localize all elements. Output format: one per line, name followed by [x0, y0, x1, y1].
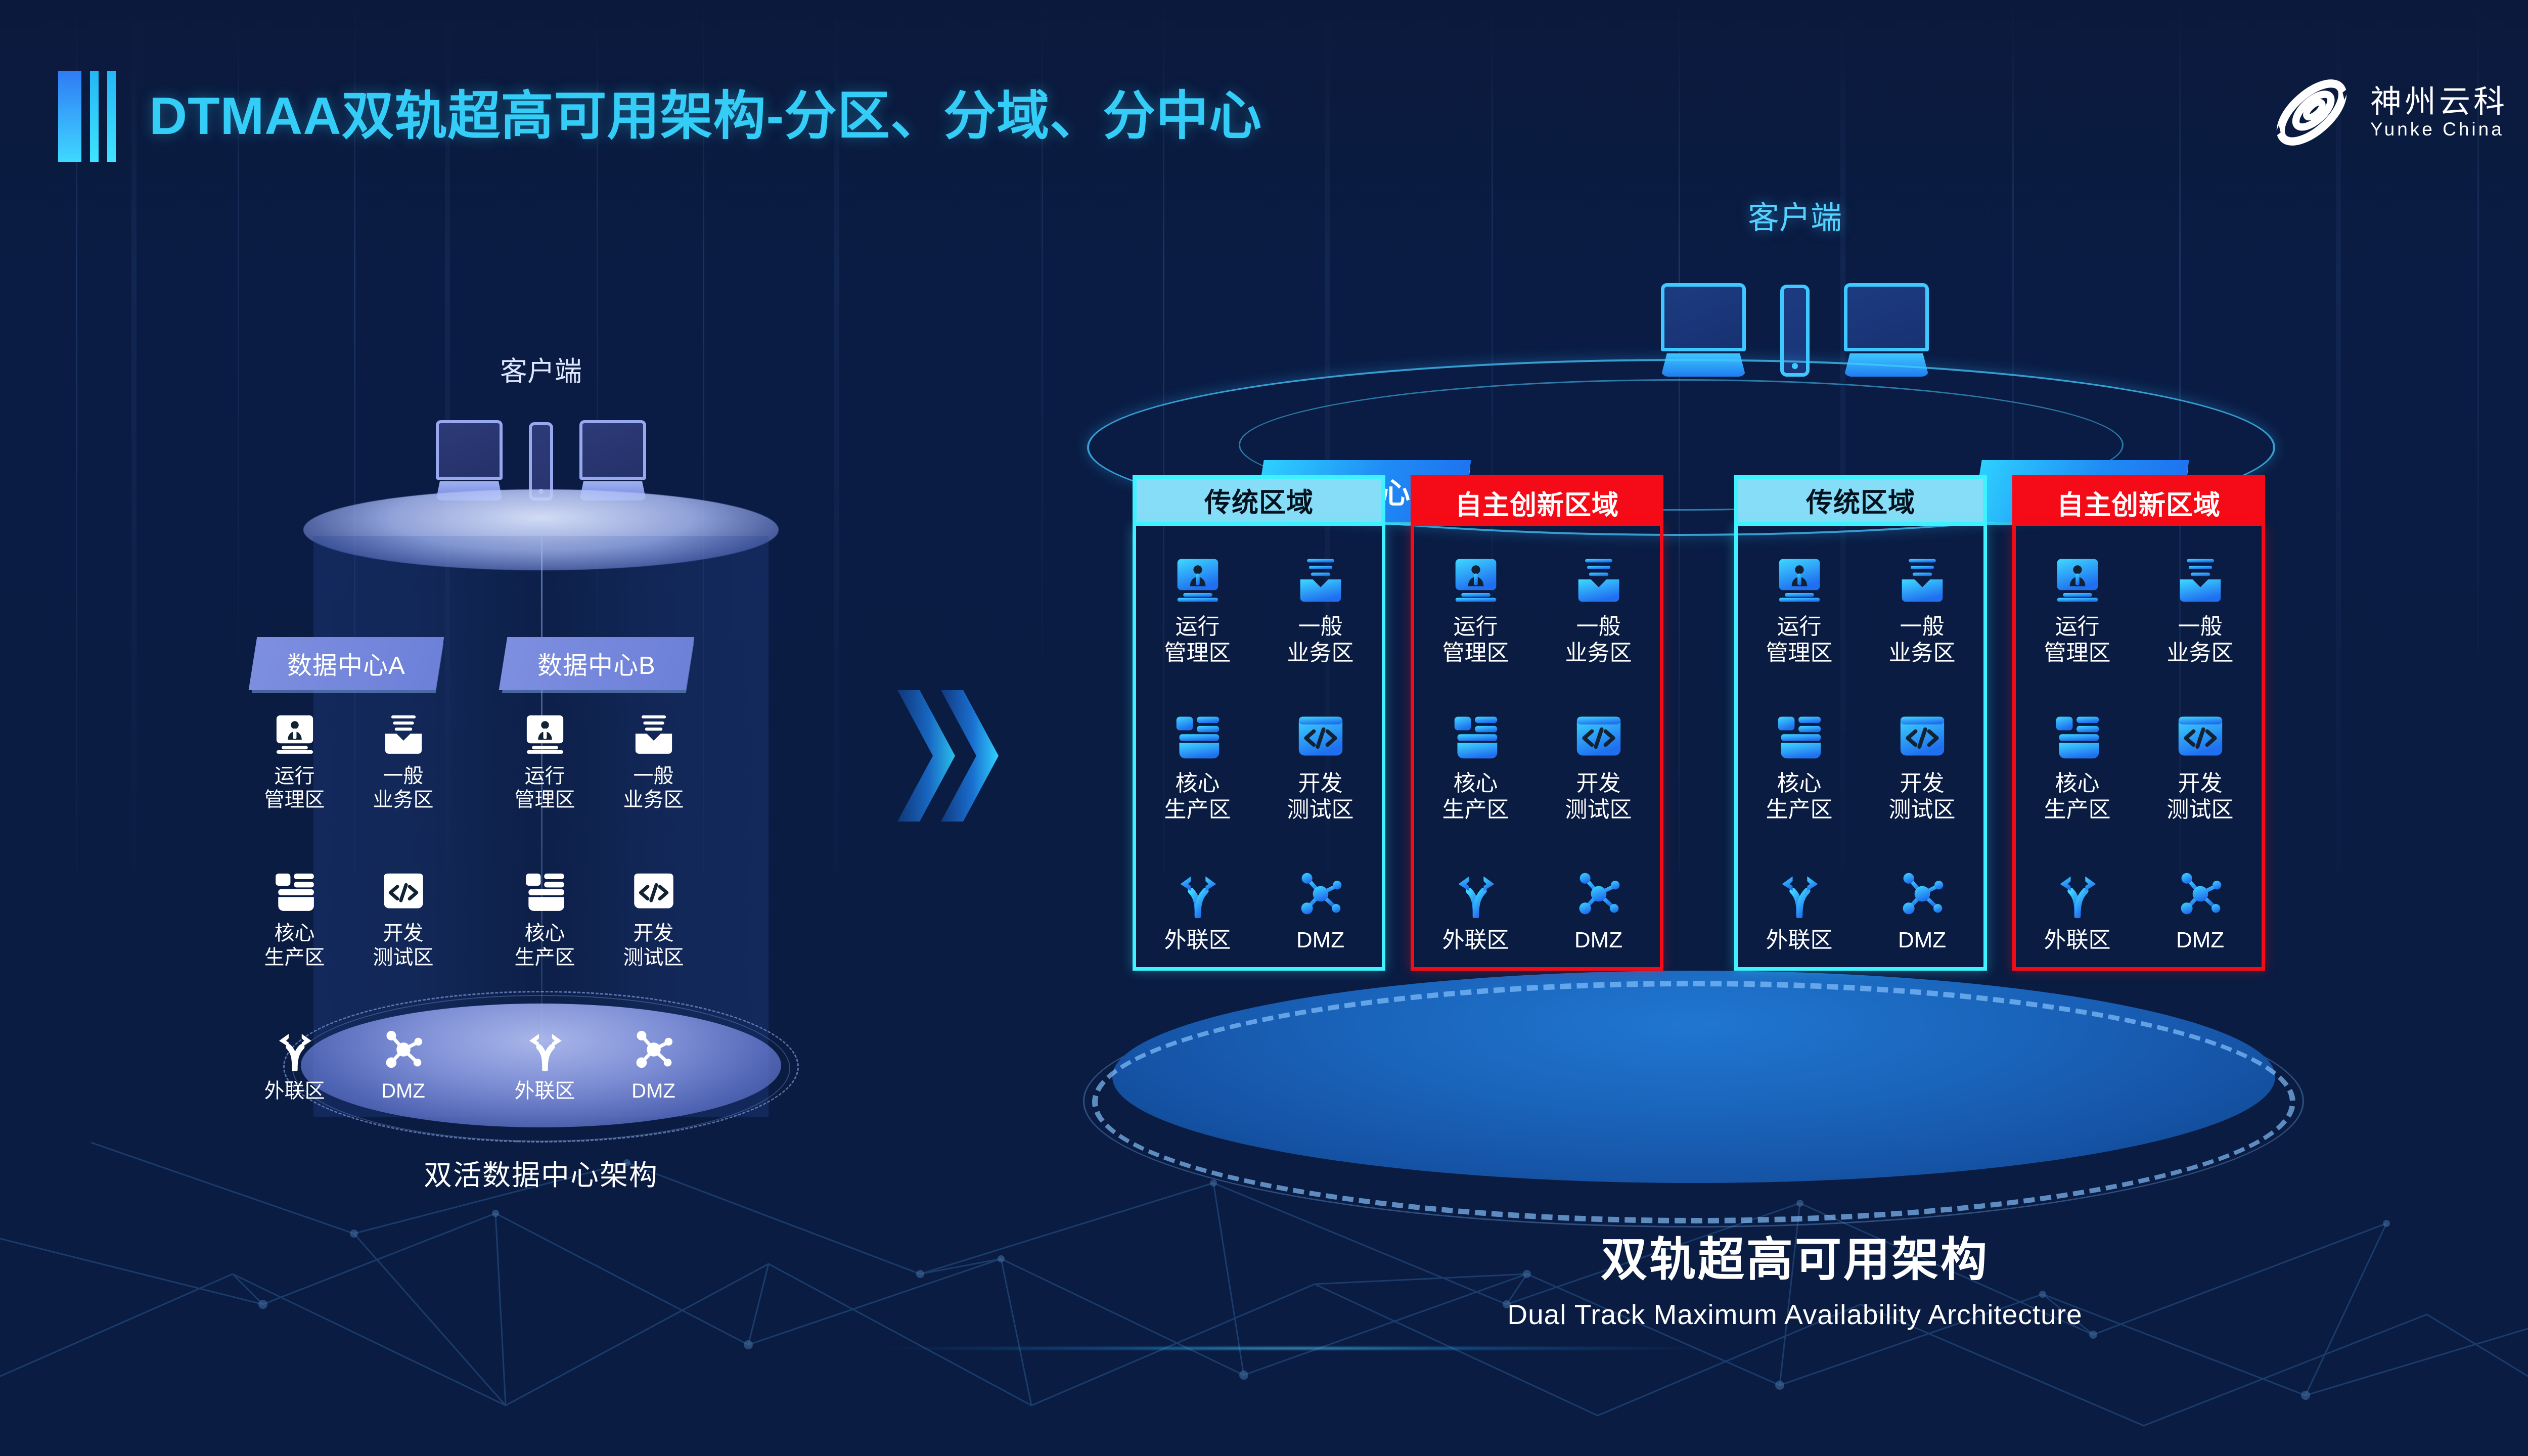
left-datacenter-b-label: 数据中心B [537, 646, 656, 681]
monitor-user-icon [1173, 556, 1222, 605]
panel-body: 运行 管理区 一般 业务区 核心 生产区 [2012, 526, 2265, 971]
left-zone-label: 运行 管理区 [515, 764, 575, 812]
right-zone-label: 外联区 [1164, 927, 1231, 953]
panel-header: 自主创新区域 [2012, 475, 2265, 526]
left-zone-label: 开发 测试区 [373, 922, 434, 969]
right-zone-inbox-document[interactable]: 一般 业务区 [2139, 556, 2262, 666]
right-zone-label: 一般 业务区 [2167, 614, 2234, 666]
left-zone-code-brackets[interactable]: 开发 测试区 [349, 870, 458, 969]
right-zone-branch-arrows[interactable]: 外联区 [2016, 870, 2139, 953]
server-stack-icon [1173, 713, 1222, 761]
left-zone-label: DMZ [381, 1079, 425, 1103]
right-zone-server-stack[interactable]: 核心 生产区 [1136, 713, 1259, 823]
page-title: DTMAA双轨超高可用架构-分区、分域、分中心 [149, 71, 1262, 162]
right-zone-monitor-user[interactable]: 运行 管理区 [1738, 556, 1861, 666]
left-zone-monitor-user[interactable]: 运行 管理区 [240, 713, 349, 812]
network-nodes-icon [382, 1028, 425, 1071]
monitor-user-icon [1775, 556, 1824, 605]
right-zone-branch-arrows[interactable]: 外联区 [1738, 870, 1861, 953]
panel-innovation[interactable]: 自主创新区域 运行 管理区 [1411, 475, 1663, 1031]
left-zone-server-stack[interactable]: 核心 生产区 [240, 870, 349, 969]
branch-arrows-icon [1775, 870, 1824, 918]
branch-arrows-icon [2053, 870, 2102, 918]
right-zone-inbox-document[interactable]: 一般 业务区 [1861, 556, 1983, 666]
inbox-document-icon [1898, 556, 1947, 605]
left-datacenter-b-badge[interactable]: 数据中心B [499, 637, 695, 690]
left-zone-monitor-user[interactable]: 运行 管理区 [490, 713, 599, 812]
right-zone-network-nodes[interactable]: DMZ [1259, 870, 1382, 953]
panel-zone-grid: 运行 管理区 一般 业务区 核心 生产区 [1414, 556, 1660, 953]
monitor-user-icon [273, 713, 317, 756]
left-zone-label: 核心 生产区 [515, 922, 575, 969]
network-nodes-icon [632, 1028, 675, 1071]
right-zone-label: 外联区 [2044, 927, 2111, 953]
inbox-document-icon [2176, 556, 2225, 605]
network-nodes-icon [1574, 870, 1623, 918]
left-zone-label: 一般 业务区 [373, 764, 434, 812]
panel-body: 运行 管理区 一般 业务区 核心 生产区 [1734, 526, 1987, 971]
right-zone-label: 一般 业务区 [1565, 614, 1632, 666]
branch-arrows-icon [1452, 870, 1500, 918]
panel-header: 传统区域 [1133, 475, 1385, 526]
branch-arrows-icon [523, 1028, 567, 1071]
left-datacenter-a-badge[interactable]: 数据中心A [249, 637, 444, 690]
right-zone-network-nodes[interactable]: DMZ [2139, 870, 2262, 953]
right-zone-server-stack[interactable]: 核心 生产区 [1738, 713, 1861, 823]
panel-header: 传统区域 [1734, 475, 1987, 526]
left-zone-branch-arrows[interactable]: 外联区 [240, 1028, 349, 1103]
panel-zone-grid: 运行 管理区 一般 业务区 核心 生产区 [1738, 556, 1983, 953]
left-datacenter-a-label: 数据中心A [287, 646, 405, 681]
inbox-document-icon [382, 713, 425, 756]
right-zone-network-nodes[interactable]: DMZ [1861, 870, 1983, 953]
network-nodes-icon [1296, 870, 1345, 918]
left-zone-label: 外联区 [515, 1079, 575, 1103]
left-zone-inbox-document[interactable]: 一般 业务区 [349, 713, 458, 812]
right-zone-label: 运行 管理区 [1164, 614, 1231, 666]
double-chevron-right-icon [897, 680, 1014, 832]
right-zone-monitor-user[interactable]: 运行 管理区 [1414, 556, 1537, 666]
logo-text-en: Yunke China [2370, 120, 2508, 139]
right-zone-label: 开发 测试区 [2167, 770, 2234, 823]
footer-caption: 双轨超高可用架构 Dual Track Maximum Availability… [1087, 1234, 2503, 1331]
left-zone-code-brackets[interactable]: 开发 测试区 [599, 870, 708, 969]
left-zone-server-stack[interactable]: 核心 生产区 [490, 870, 599, 969]
right-zone-label: 运行 管理区 [1766, 614, 1833, 666]
left-datacenter-b-zone-grid: 运行 管理区 一般 业务区 核心 生产区 [490, 713, 708, 1103]
panel-innovation[interactable]: 自主创新区域 运行 管理区 [2012, 475, 2265, 1031]
right-zone-label: 运行 管理区 [1442, 614, 1509, 666]
server-stack-icon [523, 870, 567, 914]
left-zone-label: 运行 管理区 [264, 764, 325, 812]
right-zone-code-brackets[interactable]: 开发 测试区 [2139, 713, 2262, 823]
panel-title: 传统区域 [1204, 481, 1314, 520]
right-client-label: 客户端 [1087, 192, 2503, 238]
code-brackets-icon [382, 870, 425, 914]
right-zone-label: 一般 业务区 [1287, 614, 1354, 666]
left-zone-network-nodes[interactable]: DMZ [349, 1028, 458, 1103]
left-zone-label: 核心 生产区 [264, 922, 325, 969]
right-zone-branch-arrows[interactable]: 外联区 [1136, 870, 1259, 953]
code-brackets-icon [2176, 713, 2225, 761]
right-zone-label: DMZ [1296, 927, 1344, 953]
inbox-document-icon [1296, 556, 1345, 605]
left-architecture-diagram: 客户端 数据中心A 数据中心B 运行 管理区 [212, 349, 870, 1218]
brand-logo: 神州云科 Yunke China [2266, 66, 2508, 159]
left-zone-network-nodes[interactable]: DMZ [599, 1028, 708, 1103]
right-datacenter-b-column: 传统区域 运行 管理区 [1734, 475, 2265, 1031]
right-datacenter-a-column: 传统区域 运行 管理区 [1133, 475, 1663, 1031]
right-zone-code-brackets[interactable]: 开发 测试区 [1861, 713, 1983, 823]
right-zone-label: 核心 生产区 [1442, 770, 1509, 823]
left-client-devices [212, 404, 870, 500]
right-zone-label: DMZ [2176, 927, 2224, 953]
panel-traditional[interactable]: 传统区域 运行 管理区 [1734, 475, 1987, 1031]
monitor-user-icon [523, 713, 567, 756]
inbox-document-icon [1574, 556, 1623, 605]
panel-zone-grid: 运行 管理区 一般 业务区 核心 生产区 [1136, 556, 1382, 953]
inbox-document-icon [632, 713, 675, 756]
panel-body: 运行 管理区 一般 业务区 核心 生产区 [1133, 526, 1385, 971]
right-zone-label: 开发 测试区 [1287, 770, 1354, 823]
right-zone-label: DMZ [1574, 927, 1622, 953]
panel-traditional[interactable]: 传统区域 运行 管理区 [1133, 475, 1385, 1031]
right-zone-server-stack[interactable]: 核心 生产区 [2016, 713, 2139, 823]
left-zone-label: DMZ [631, 1079, 675, 1103]
code-brackets-icon [1574, 713, 1623, 761]
code-brackets-icon [1296, 713, 1345, 761]
right-zone-label: DMZ [1898, 927, 1946, 953]
right-zone-monitor-user[interactable]: 运行 管理区 [1136, 556, 1259, 666]
right-zone-code-brackets[interactable]: 开发 测试区 [1259, 713, 1382, 823]
left-zone-branch-arrows[interactable]: 外联区 [490, 1028, 599, 1103]
panel-zone-grid: 运行 管理区 一般 业务区 核心 生产区 [2016, 556, 2262, 953]
right-zone-label: 核心 生产区 [2044, 770, 2111, 823]
panel-body: 运行 管理区 一般 业务区 核心 生产区 [1411, 526, 1663, 971]
phone-icon [529, 422, 553, 500]
logo-text-cn: 神州云科 [2370, 86, 2508, 118]
left-zone-label: 外联区 [264, 1079, 325, 1103]
right-zone-network-nodes[interactable]: DMZ [1537, 870, 1660, 953]
footer-title-en: Dual Track Maximum Availability Architec… [1087, 1298, 2503, 1331]
slide-header: DTMAA双轨超高可用架构-分区、分域、分中心 神州云科 Yunke China [0, 0, 2528, 172]
left-client-label: 客户端 [212, 349, 870, 389]
server-stack-icon [273, 870, 317, 914]
footer-title-cn: 双轨超高可用架构 [1087, 1234, 2503, 1287]
spiral-logo-mark-icon [2266, 66, 2357, 159]
server-stack-icon [1775, 713, 1824, 761]
panel-title: 自主创新区域 [2057, 484, 2221, 522]
right-zone-label: 开发 测试区 [1889, 770, 1956, 823]
monitor-user-icon [1452, 556, 1500, 605]
right-zone-label: 一般 业务区 [1889, 614, 1956, 666]
code-brackets-icon [632, 870, 675, 914]
network-nodes-icon [1898, 870, 1947, 918]
server-stack-icon [1452, 713, 1500, 761]
left-diagram-caption: 双活数据中心架构 [212, 1153, 870, 1194]
right-zone-inbox-document[interactable]: 一般 业务区 [1259, 556, 1382, 666]
branch-arrows-icon [1173, 870, 1222, 918]
server-stack-icon [2053, 713, 2102, 761]
monitor-user-icon [2053, 556, 2102, 605]
laptop-icon [579, 420, 646, 500]
title-accent-bars [58, 71, 116, 162]
right-zone-label: 核心 生产区 [1164, 770, 1231, 823]
right-zone-server-stack[interactable]: 核心 生产区 [1414, 713, 1537, 823]
left-zone-inbox-document[interactable]: 一般 业务区 [599, 713, 708, 812]
left-zone-label: 开发 测试区 [623, 922, 684, 969]
branch-arrows-icon [273, 1028, 317, 1071]
left-zone-label: 一般 业务区 [623, 764, 684, 812]
right-zone-label: 运行 管理区 [2044, 614, 2111, 666]
right-zone-label: 开发 测试区 [1565, 770, 1632, 823]
right-architecture-diagram: 客户端 数据中心A 数据中心B 传统区域 [1087, 192, 2503, 1380]
panel-header: 自主创新区域 [1411, 475, 1663, 526]
right-zone-label: 外联区 [1766, 927, 1833, 953]
right-zone-code-brackets[interactable]: 开发 测试区 [1537, 713, 1660, 823]
code-brackets-icon [1898, 713, 1947, 761]
right-zone-monitor-user[interactable]: 运行 管理区 [2016, 556, 2139, 666]
right-zone-inbox-document[interactable]: 一般 业务区 [1537, 556, 1660, 666]
right-datacenter-panels: 传统区域 运行 管理区 [1133, 475, 2265, 1031]
panel-title: 传统区域 [1806, 481, 1915, 520]
left-datacenter-a-zone-grid: 运行 管理区 一般 业务区 核心 生产区 [240, 713, 458, 1103]
laptop-icon [436, 420, 503, 500]
panel-title: 自主创新区域 [1455, 484, 1619, 522]
network-nodes-icon [2176, 870, 2225, 918]
right-zone-branch-arrows[interactable]: 外联区 [1414, 870, 1537, 953]
right-zone-label: 核心 生产区 [1766, 770, 1833, 823]
right-zone-label: 外联区 [1442, 927, 1509, 953]
